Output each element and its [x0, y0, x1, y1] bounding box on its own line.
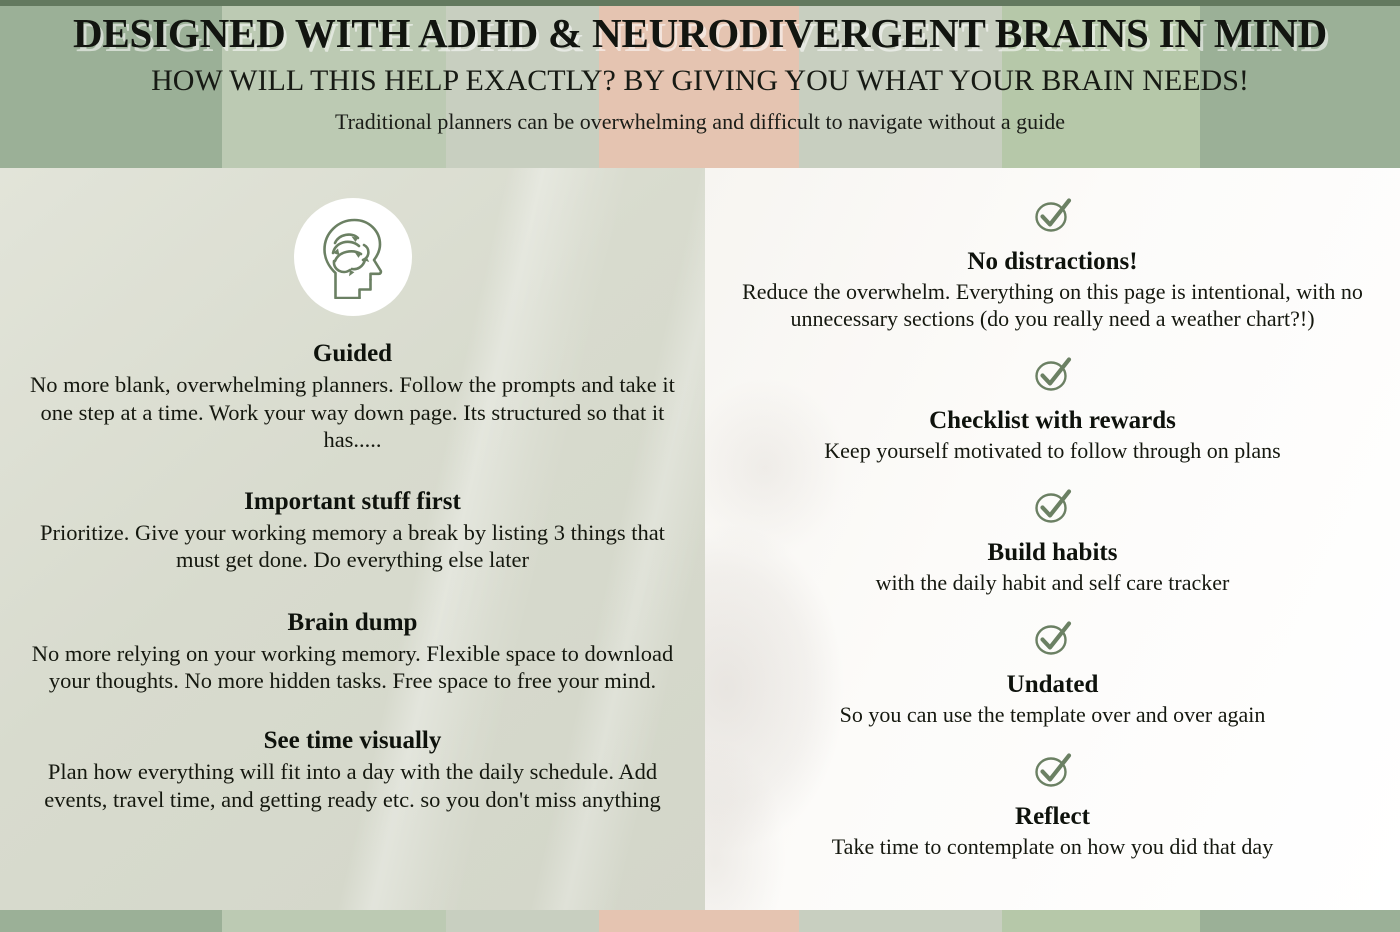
- right-panel: No distractions! Reduce the overwhelm. E…: [705, 168, 1400, 910]
- content-panels: Guided No more blank, overwhelming plann…: [0, 168, 1400, 910]
- feature-body: No more relying on your working memory. …: [22, 640, 683, 695]
- page-title: DESIGNED WITH ADHD & NEURODIVERGENT BRAI…: [0, 0, 1400, 57]
- page-subtitle: HOW WILL THIS HELP EXACTLY? BY GIVING YO…: [0, 57, 1400, 99]
- feature-heading: Important stuff first: [22, 486, 683, 517]
- stripe-band: [222, 910, 446, 932]
- left-feature-item: Brain dump No more relying on your worki…: [0, 607, 705, 695]
- feature-heading: Build habits: [733, 537, 1372, 568]
- check-circle-icon: [1031, 619, 1075, 659]
- right-feature-item: Checklist with rewards Keep yourself mot…: [705, 405, 1400, 465]
- right-column: No distractions! Reduce the overwhelm. E…: [705, 168, 1400, 910]
- feature-body: No more blank, overwhelming planners. Fo…: [22, 371, 683, 453]
- right-feature-item: Build habits with the daily habit and se…: [705, 537, 1400, 597]
- infographic-page: DESIGNED WITH ADHD & NEURODIVERGENT BRAI…: [0, 0, 1400, 932]
- feature-body: Plan how everything will fit into a day …: [22, 758, 683, 813]
- feature-heading: No distractions!: [733, 246, 1372, 277]
- feature-heading: Guided: [22, 338, 683, 369]
- stripe-band: [1200, 910, 1400, 932]
- header: DESIGNED WITH ADHD & NEURODIVERGENT BRAI…: [0, 0, 1400, 168]
- bottom-stripes: [0, 910, 1400, 932]
- feature-heading: Brain dump: [22, 607, 683, 638]
- left-panel: Guided No more blank, overwhelming plann…: [0, 168, 705, 910]
- feature-body: Prioritize. Give your working memory a b…: [22, 519, 683, 574]
- feature-body: So you can use the template over and ove…: [733, 702, 1372, 729]
- check-circle-icon: [1031, 196, 1075, 236]
- stripe-band: [599, 910, 799, 932]
- check-circle-icon: [1031, 751, 1075, 791]
- brain-icon-badge: [294, 198, 412, 316]
- feature-body: Keep yourself motivated to follow throug…: [733, 438, 1372, 465]
- stripe-band: [799, 910, 1002, 932]
- left-feature-item: See time visually Plan how everything wi…: [0, 725, 705, 813]
- page-tagline: Traditional planners can be overwhelming…: [0, 99, 1400, 135]
- right-feature-item: No distractions! Reduce the overwhelm. E…: [705, 246, 1400, 333]
- left-feature-item: Guided No more blank, overwhelming plann…: [0, 338, 705, 454]
- feature-heading: Undated: [733, 669, 1372, 700]
- brain-head-icon: [313, 215, 393, 299]
- left-column: Guided No more blank, overwhelming plann…: [0, 198, 705, 910]
- feature-body: Reduce the overwhelm. Everything on this…: [733, 279, 1372, 333]
- stripe-band: [446, 910, 599, 932]
- check-circle-icon: [1031, 355, 1075, 395]
- check-circle-icon: [1031, 487, 1075, 527]
- feature-heading: Reflect: [733, 801, 1372, 832]
- right-feature-item: Undated So you can use the template over…: [705, 669, 1400, 729]
- left-feature-item: Important stuff first Prioritize. Give y…: [0, 486, 705, 574]
- feature-body: Take time to contemplate on how you did …: [733, 834, 1372, 861]
- feature-heading: Checklist with rewards: [733, 405, 1372, 436]
- stripe-band: [1002, 910, 1200, 932]
- feature-body: with the daily habit and self care track…: [733, 570, 1372, 597]
- stripe-band: [0, 910, 222, 932]
- right-feature-item: Reflect Take time to contemplate on how …: [705, 801, 1400, 861]
- feature-heading: See time visually: [22, 725, 683, 756]
